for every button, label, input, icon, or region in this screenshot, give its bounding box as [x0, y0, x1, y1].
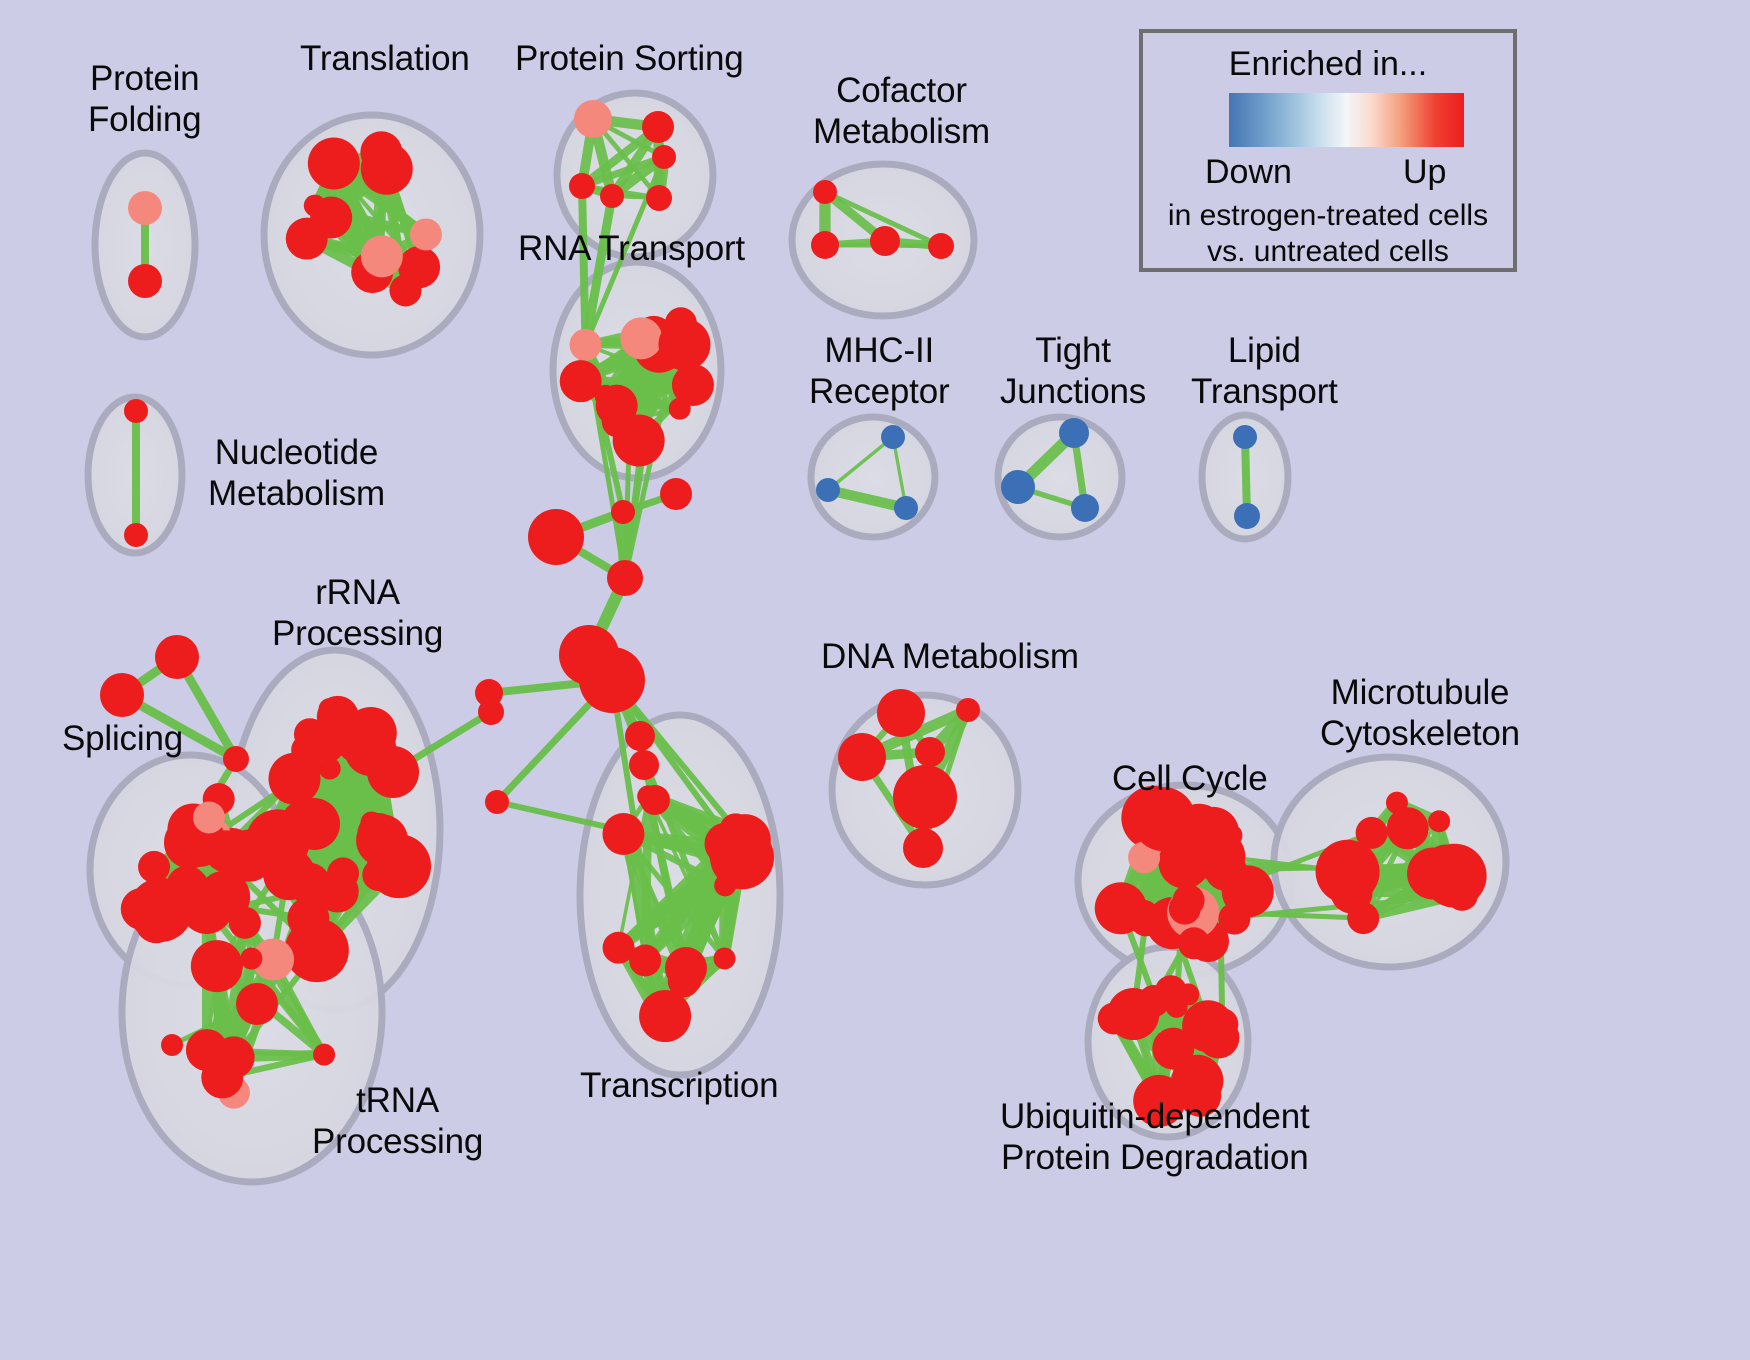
network-node[interactable]	[286, 218, 328, 260]
cluster-label-dna-metabolism: DNA Metabolism	[821, 636, 1079, 677]
network-node[interactable]	[1178, 927, 1210, 959]
network-node[interactable]	[714, 947, 736, 969]
cluster-label-protein-sorting: Protein Sorting	[515, 38, 744, 79]
network-node[interactable]	[100, 673, 144, 717]
cluster-label-protein-folding: Protein Folding	[88, 58, 201, 140]
cluster-label-ubiquitin-protein-degradation: Ubiquitin-dependent Protein Degradation	[1000, 1096, 1310, 1178]
network-node[interactable]	[319, 698, 341, 720]
network-node[interactable]	[813, 180, 837, 204]
network-figure: Protein FoldingTranslationProtein Sortin…	[0, 0, 1750, 1360]
network-node[interactable]	[607, 560, 643, 596]
network-node[interactable]	[1427, 856, 1459, 888]
network-node[interactable]	[128, 191, 162, 225]
network-node[interactable]	[658, 1004, 680, 1026]
legend-caption-line-2: vs. untreated cells	[1143, 235, 1513, 269]
network-node[interactable]	[600, 184, 624, 208]
cluster-label-lipid-transport: Lipid Transport	[1191, 330, 1338, 412]
cluster-label-cofactor-metabolism: Cofactor Metabolism	[813, 70, 990, 152]
network-node[interactable]	[193, 801, 225, 833]
network-node[interactable]	[367, 746, 419, 798]
network-node[interactable]	[304, 195, 326, 217]
network-node[interactable]	[223, 746, 249, 772]
network-node[interactable]	[181, 882, 233, 934]
network-node[interactable]	[124, 523, 148, 547]
cluster-label-tight-junctions: Tight Junctions	[1000, 330, 1146, 412]
network-node[interactable]	[389, 274, 421, 306]
network-node[interactable]	[658, 319, 710, 371]
network-node[interactable]	[361, 811, 383, 833]
cluster-label-microtubule-cytoskeleton: Microtubule Cytoskeleton	[1320, 672, 1520, 754]
network-node[interactable]	[410, 218, 442, 250]
network-node[interactable]	[1428, 810, 1450, 832]
network-node[interactable]	[877, 689, 925, 737]
cluster-hull-mhc-ii-receptor	[811, 417, 935, 537]
network-node[interactable]	[319, 758, 341, 780]
network-node[interactable]	[1220, 824, 1242, 846]
network-node[interactable]	[191, 940, 243, 992]
network-node[interactable]	[611, 500, 635, 524]
network-node[interactable]	[915, 737, 945, 767]
network-node[interactable]	[485, 790, 509, 814]
cluster-label-rrna-processing: rRNA Processing	[272, 572, 443, 654]
network-node[interactable]	[360, 131, 402, 173]
cluster-label-splicing: Splicing	[62, 718, 183, 759]
network-node[interactable]	[629, 944, 661, 976]
network-node[interactable]	[574, 100, 612, 138]
network-node[interactable]	[1218, 903, 1250, 935]
network-node[interactable]	[629, 750, 659, 780]
network-node[interactable]	[1205, 849, 1247, 891]
network-node[interactable]	[124, 399, 148, 423]
network-node[interactable]	[894, 496, 918, 520]
cluster-label-transcription: Transcription	[580, 1065, 778, 1106]
network-node[interactable]	[240, 948, 262, 970]
network-node[interactable]	[229, 907, 261, 939]
network-node[interactable]	[570, 329, 602, 361]
network-node[interactable]	[1331, 872, 1373, 914]
network-node[interactable]	[893, 765, 957, 829]
network-node[interactable]	[642, 111, 674, 143]
network-node[interactable]	[121, 888, 163, 930]
network-node[interactable]	[1234, 503, 1260, 529]
network-node[interactable]	[1169, 893, 1201, 925]
network-node[interactable]	[881, 425, 905, 449]
network-node[interactable]	[660, 478, 692, 510]
network-node[interactable]	[361, 235, 403, 277]
network-node[interactable]	[308, 137, 360, 189]
network-node[interactable]	[956, 698, 980, 722]
cluster-label-rna-transport: RNA Transport	[518, 228, 745, 269]
network-node[interactable]	[1071, 494, 1099, 522]
network-node[interactable]	[838, 733, 886, 781]
network-node[interactable]	[367, 834, 431, 898]
network-node[interactable]	[596, 385, 638, 427]
network-node[interactable]	[1177, 983, 1199, 1005]
network-node[interactable]	[670, 963, 702, 995]
network-node[interactable]	[870, 226, 900, 256]
network-node[interactable]	[291, 734, 323, 766]
cluster-label-trna-processing: tRNA Processing	[312, 1080, 483, 1162]
network-node[interactable]	[138, 851, 170, 883]
legend-low-label: Down	[1205, 153, 1292, 192]
network-node[interactable]	[1059, 418, 1089, 448]
network-node[interactable]	[288, 863, 330, 905]
network-node[interactable]	[528, 509, 584, 565]
network-node[interactable]	[625, 721, 655, 751]
network-node[interactable]	[569, 173, 595, 199]
cluster-label-mhc-ii-receptor: MHC-II Receptor	[809, 330, 949, 412]
network-node[interactable]	[672, 364, 714, 406]
network-node[interactable]	[1127, 900, 1159, 932]
network-node[interactable]	[646, 185, 672, 211]
network-node[interactable]	[714, 874, 736, 896]
network-node[interactable]	[1001, 470, 1035, 504]
network-node[interactable]	[602, 813, 644, 855]
network-node[interactable]	[161, 1034, 183, 1056]
legend-panel: Enriched in... Down Up in estrogen-treat…	[1139, 29, 1517, 272]
network-node[interactable]	[155, 635, 199, 679]
legend-color-gradient	[1229, 93, 1464, 147]
network-node[interactable]	[201, 1056, 243, 1098]
network-node[interactable]	[128, 264, 162, 298]
network-node[interactable]	[928, 233, 954, 259]
network-node[interactable]	[1233, 425, 1257, 449]
network-node[interactable]	[811, 231, 839, 259]
network-node[interactable]	[313, 1044, 335, 1066]
network-node[interactable]	[1098, 1002, 1130, 1034]
cluster-label-nucleotide-metabolism: Nucleotide Metabolism	[208, 432, 385, 514]
legend-high-label: Up	[1403, 153, 1446, 192]
legend-caption-line-1: in estrogen-treated cells	[1143, 199, 1513, 233]
cluster-label-translation: Translation	[300, 38, 470, 79]
network-node[interactable]	[816, 478, 840, 502]
network-node[interactable]	[652, 145, 676, 169]
network-node[interactable]	[640, 785, 670, 815]
network-node[interactable]	[1197, 1016, 1239, 1058]
network-node[interactable]	[1387, 807, 1429, 849]
network-node[interactable]	[903, 828, 943, 868]
network-node[interactable]	[1356, 817, 1388, 849]
network-node[interactable]	[236, 983, 278, 1025]
network-node[interactable]	[478, 699, 504, 725]
network-node[interactable]	[620, 317, 662, 359]
network-node[interactable]	[579, 647, 645, 713]
legend-title: Enriched in...	[1143, 45, 1513, 84]
network-node[interactable]	[560, 360, 602, 402]
cluster-label-cell-cycle: Cell Cycle	[1112, 758, 1268, 799]
